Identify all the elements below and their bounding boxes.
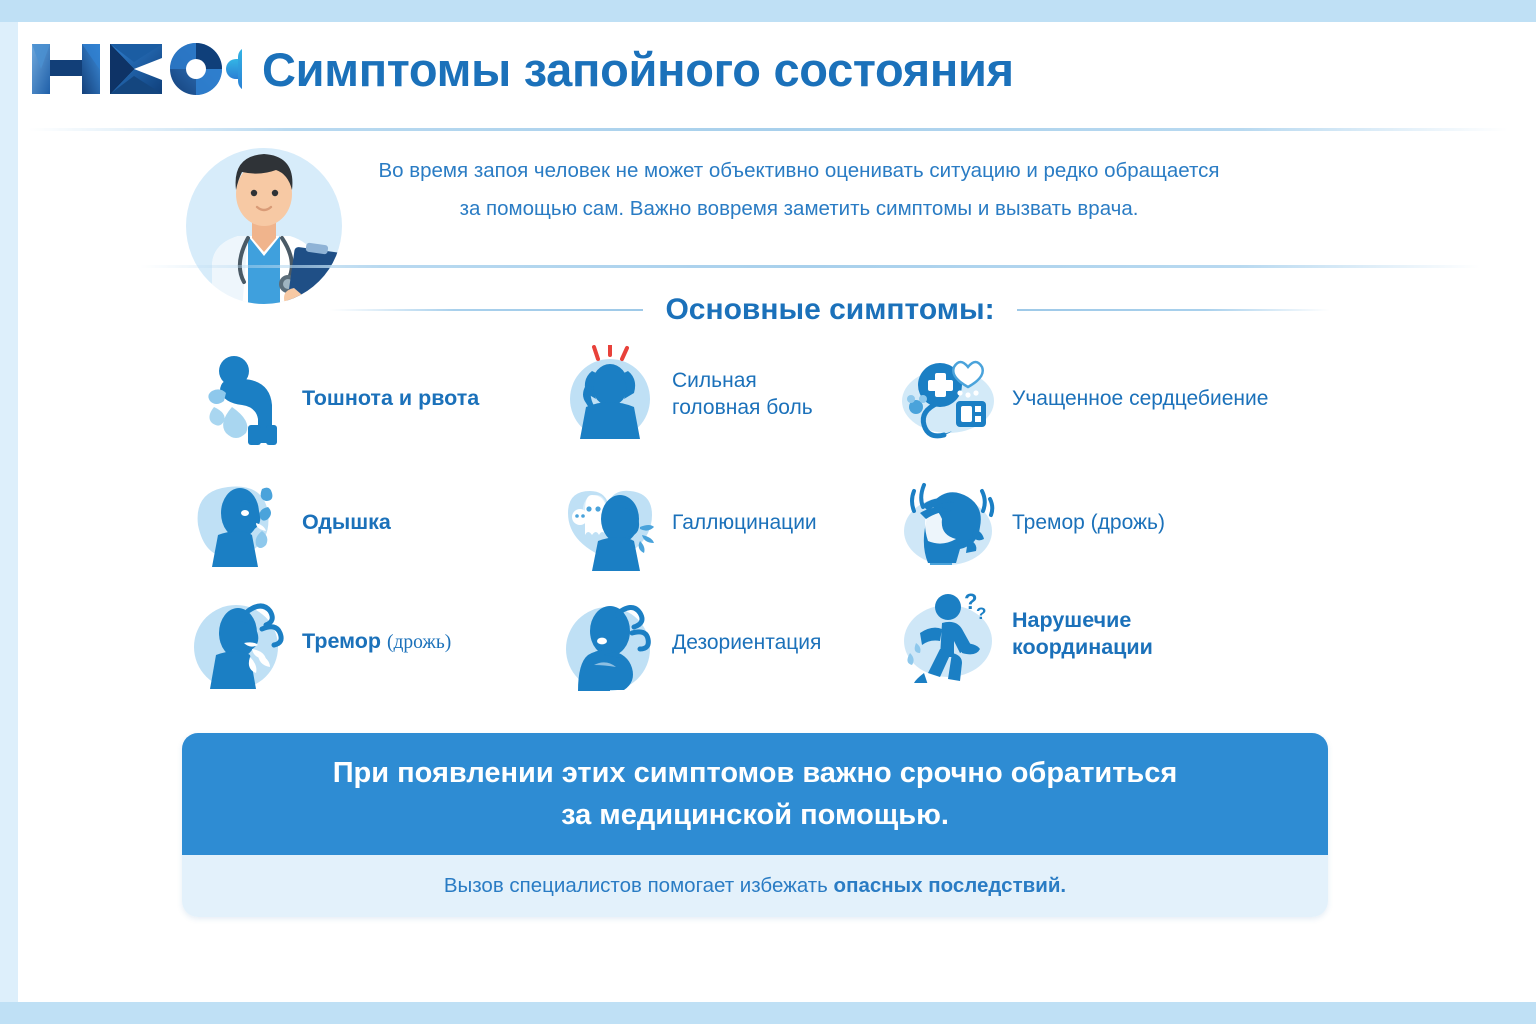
tremor-head-icon	[898, 473, 1006, 571]
brand-logo	[30, 40, 242, 98]
section-rule-left	[330, 309, 643, 311]
disorientation-icon	[558, 593, 666, 691]
symptom-item: Тошнота и рвота	[188, 349, 479, 447]
header-divider	[28, 128, 1508, 131]
section-heading-label: Основные симптомы:	[665, 293, 994, 327]
left-decorative-band	[0, 22, 18, 1002]
intro-divider	[140, 265, 1480, 268]
symptom-item: Тремор (дрожь)	[188, 593, 451, 691]
hallucination-icon	[558, 473, 666, 571]
symptom-label: Дезориентация	[672, 629, 821, 656]
breathless-icon	[188, 473, 296, 571]
banner-line-2: за медицинской помощью.	[561, 794, 949, 836]
symptom-label: Учащенное сердцебиение	[1012, 385, 1268, 412]
symptom-label: Тремор (дрожь)	[1012, 509, 1165, 536]
symptom-item: Галлюцинации	[558, 473, 817, 571]
symptom-label: Галлюцинации	[672, 509, 817, 536]
symptom-item: Дезориентация	[558, 593, 821, 691]
symptom-label: Нарушечие координации	[1012, 607, 1153, 661]
logo-letter-e	[110, 44, 162, 94]
vomiting-icon	[188, 349, 296, 447]
intro-paragraph: Во время запоя человек не может объектив…	[318, 152, 1280, 228]
page-header: Симптомы запойного состояния	[0, 22, 1536, 118]
symptom-item: ? ? Нарушечие координации	[898, 585, 1153, 683]
banner-line-1: При появлении этих симптомов важно срочн…	[333, 752, 1178, 794]
logo-plus-icon	[226, 47, 242, 91]
intro-line-2: за помощью сам. Важно вовремя заметить с…	[318, 190, 1280, 228]
symptom-grid: Тошнота и рвота	[180, 345, 1340, 715]
symptom-item: Одышка	[188, 473, 391, 571]
svg-text:?: ?	[976, 604, 986, 623]
symptom-item: Тремор (дрожь)	[898, 473, 1165, 571]
symptom-label: Тремор (дрожь)	[302, 628, 451, 656]
symptom-item: Сильная головная боль	[558, 345, 813, 443]
infographic-page: Симптомы запойного состояния	[0, 0, 1536, 1024]
top-decorative-band	[0, 0, 1536, 22]
banner-primary-message: При появлении этих симптомов важно срочн…	[182, 733, 1328, 855]
intro-line-1: Во время запоя человек не может объектив…	[318, 152, 1280, 190]
heart-monitor-icon	[898, 349, 1006, 447]
section-heading: Основные симптомы:	[330, 288, 1330, 332]
symptom-label: Сильная головная боль	[672, 367, 813, 421]
section-rule-right	[1017, 309, 1330, 311]
headache-icon	[558, 345, 666, 443]
call-to-action-banner: При появлении этих симптомов важно срочн…	[182, 733, 1328, 917]
symptom-label: Тошнота и рвота	[302, 385, 479, 412]
symptom-item: Учащенное сердцебиение	[898, 349, 1268, 447]
tremor-sweat-icon	[188, 593, 296, 691]
logo-letter-o	[170, 43, 222, 95]
symptom-label: Одышка	[302, 509, 391, 536]
banner-footer-text: Вызов специалистов помогает избежать опа…	[444, 874, 1066, 898]
page-title: Симптомы запойного состояния	[262, 42, 1014, 97]
banner-footer: Вызов специалистов помогает избежать опа…	[182, 855, 1328, 917]
logo-letter-n	[32, 44, 100, 94]
bottom-decorative-band	[0, 1002, 1536, 1024]
coordination-icon: ? ?	[898, 585, 1006, 683]
